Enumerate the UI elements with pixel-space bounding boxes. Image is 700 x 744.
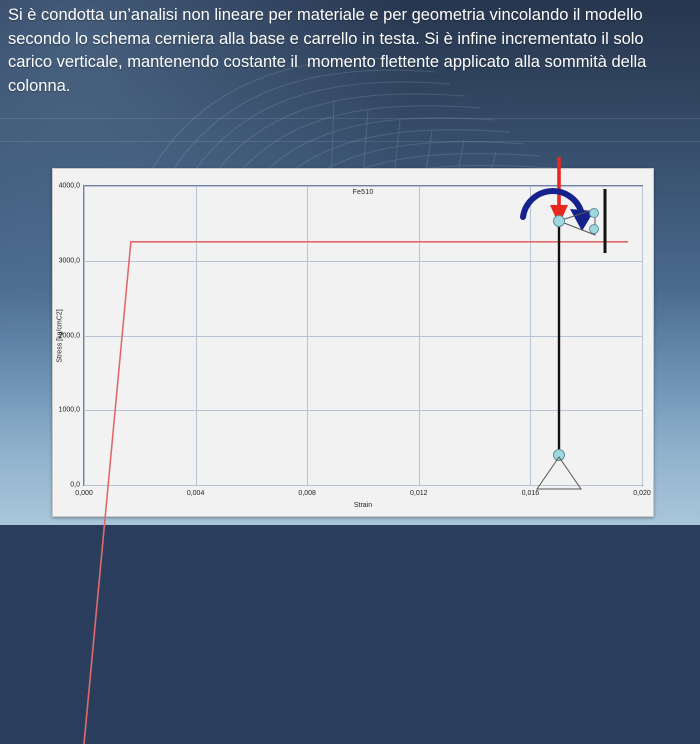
y-tick-label: 0,0 (70, 482, 80, 489)
x-axis-label: Strain (84, 502, 642, 509)
slide-caption: Si è condotta un’analisi non lineare per… (8, 4, 692, 98)
y-tick-label: 4000,0 (59, 183, 80, 190)
plot-area: Fe510 0,0000,0040,0080,0120,0160,0200,01… (83, 185, 643, 486)
stress-strain-curve (84, 186, 642, 744)
y-axis-label: Stress [kg/cmC2] (57, 309, 64, 362)
y-tick-label: 1000,0 (59, 407, 80, 414)
x-gridline (642, 186, 643, 485)
background-band (0, 141, 700, 142)
chart-panel: Fe510 0,0000,0040,0080,0120,0160,0200,01… (52, 168, 654, 517)
background-band (0, 118, 700, 119)
y-tick-label: 3000,0 (59, 257, 80, 264)
